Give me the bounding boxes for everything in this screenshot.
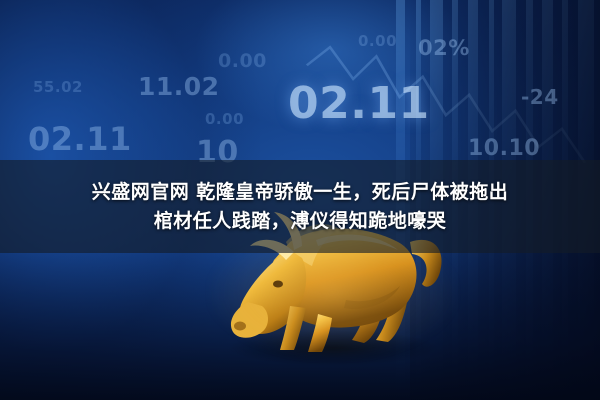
floating-number-8: 02.11	[28, 120, 132, 158]
floating-number-6: 0.00	[205, 110, 244, 128]
thumbnail-image: 0.000.0002%55.0211.02-240.0002.1102.1110…	[0, 0, 600, 400]
headline-line-2: 棺材任人践踏，溥仪得知跪地嚎哭	[154, 210, 447, 233]
floating-number-4: 11.02	[138, 72, 220, 101]
floating-number-0: 0.00	[218, 50, 267, 72]
headline-block: 兴盛网官网 乾隆皇帝骄傲一生，死后尸体被拖出 棺材任人践踏，溥仪得知跪地嚎哭	[0, 160, 600, 253]
floating-number-2: 02%	[418, 36, 470, 60]
floating-number-3: 55.02	[33, 78, 83, 96]
floating-number-7: 02.11	[288, 78, 430, 129]
floating-number-5: -24	[521, 85, 559, 109]
floating-number-10: 10.10	[468, 136, 540, 161]
headline-line-1: 兴盛网官网 乾隆皇帝骄傲一生，死后尸体被拖出	[92, 181, 509, 204]
floating-number-1: 0.00	[358, 32, 397, 50]
